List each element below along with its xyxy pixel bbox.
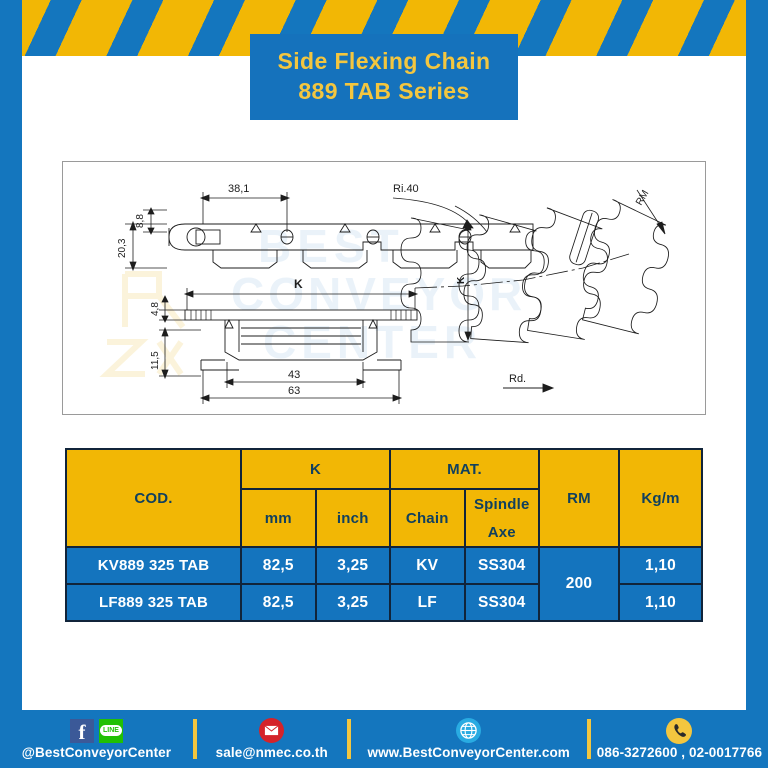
phone-handset-glyph [672,723,687,738]
watermark-logo-mark [107,274,183,374]
cell-inch-0: 3,25 [316,547,391,584]
cell-mm-0: 82,5 [241,547,316,584]
header-cell-kgm: Kg/m [619,449,702,547]
dimension-label-43: 43 [288,369,300,381]
phone-icon-row [666,719,692,743]
radius-leader-ri40 [393,198,487,232]
envelope-glyph [264,725,279,736]
cell-chain-1: LF [390,584,465,621]
phone-number-text: 086-3272600 , 02-0017766 [597,745,762,760]
facebook-handle-text: @BestConveyorCenter [22,745,171,760]
footer-social-section[interactable]: f LINE @BestConveyorCenter [0,710,193,768]
facebook-icon[interactable]: f [70,719,94,743]
email-address-text: sale@nmec.co.th [216,745,328,760]
watermark-text-best: BEST [258,220,405,272]
dimension-label-rm: RM [634,189,651,208]
cell-spindle-axe-0: SS304 [465,547,540,584]
title-line-2: 889 TAB Series [298,79,469,105]
dimension-label-k-front: K [294,277,303,291]
dimension-label-63: 63 [288,385,300,397]
dimension-label-38-1: 38,1 [228,183,249,195]
social-icon-row: f LINE [70,719,123,743]
title-banner: Side Flexing Chain 889 TAB Series [250,34,518,120]
footer-contact-bar: f LINE @BestConveyorCenter sale@nmec.co.… [0,710,768,768]
header-cell-cod: COD. [66,449,241,547]
header-cell-spindle: Spindle [465,489,540,518]
cell-inch-1: 3,25 [316,584,391,621]
cell-spindle-axe-1: SS304 [465,584,540,621]
footer-email-section[interactable]: sale@nmec.co.th [197,710,347,768]
cell-kgm-1: 1,10 [619,584,702,621]
cell-cod-1: LF889 325 TAB [66,584,241,621]
cell-rm-merged: 200 [539,547,619,621]
globe-icon[interactable] [456,718,481,743]
table-body: KV889 325 TAB 82,5 3,25 KV SS304 200 1,1… [66,547,702,621]
title-line-1: Side Flexing Chain [278,49,491,75]
line-icon[interactable]: LINE [99,719,123,743]
stripe-right-cap [746,0,768,56]
technical-drawing-frame: BEST CONVEYOR CENTER [62,161,706,415]
phone-icon[interactable] [666,718,692,744]
cell-kgm-0: 1,10 [619,547,702,584]
header-cell-axe: Axe [465,518,540,547]
poster-page: Side Flexing Chain 889 TAB Series BEST C… [0,0,768,768]
stripe-left-cap [0,0,22,56]
globe-glyph [460,722,477,739]
dimension-20-3 [125,222,167,270]
header-cell-chain: Chain [390,489,465,547]
technical-drawing-svg: BEST CONVEYOR CENTER [63,162,705,414]
header-cell-k: K [241,449,390,489]
header-cell-mat: MAT. [390,449,539,489]
cell-mm-1: 82,5 [241,584,316,621]
email-icon[interactable] [259,718,284,743]
dimension-label-8-8: 8,8 [135,214,146,228]
cell-chain-0: KV [390,547,465,584]
footer-website-section[interactable]: www.BestConveyorCenter.com [351,710,587,768]
footer-phone-section[interactable]: 086-3272600 , 02-0017766 [591,710,768,768]
line-icon-label: LINE [100,725,122,736]
dimension-label-11-5: 11,5 [150,351,161,370]
radius-label-ri40: Ri.40 [393,183,419,195]
dimension-label-k-plan: K [456,276,467,284]
header-cell-inch: inch [316,489,391,547]
table-head: COD. K MAT. RM Kg/m mm inch Chain Spindl… [66,449,702,547]
dimension-63 [201,370,401,404]
email-icon-row [259,719,284,743]
specification-table: COD. K MAT. RM Kg/m mm inch Chain Spindl… [65,448,703,622]
dimension-label-4-8: 4,8 [150,302,161,316]
website-url-text: www.BestConveyorCenter.com [367,745,569,760]
dimension-label-20-3: 20,3 [117,238,128,258]
header-cell-rm: RM [539,449,619,547]
website-icon-row [456,719,481,743]
table-row: KV889 325 TAB 82,5 3,25 KV SS304 200 1,1… [66,547,702,584]
dimension-8-8 [143,208,167,234]
table-header-row-1: COD. K MAT. RM Kg/m [66,449,702,489]
header-cell-mm: mm [241,489,316,547]
direction-label-rd: Rd. [509,373,526,385]
cell-cod-0: KV889 325 TAB [66,547,241,584]
direction-arrow-rd [503,384,553,392]
